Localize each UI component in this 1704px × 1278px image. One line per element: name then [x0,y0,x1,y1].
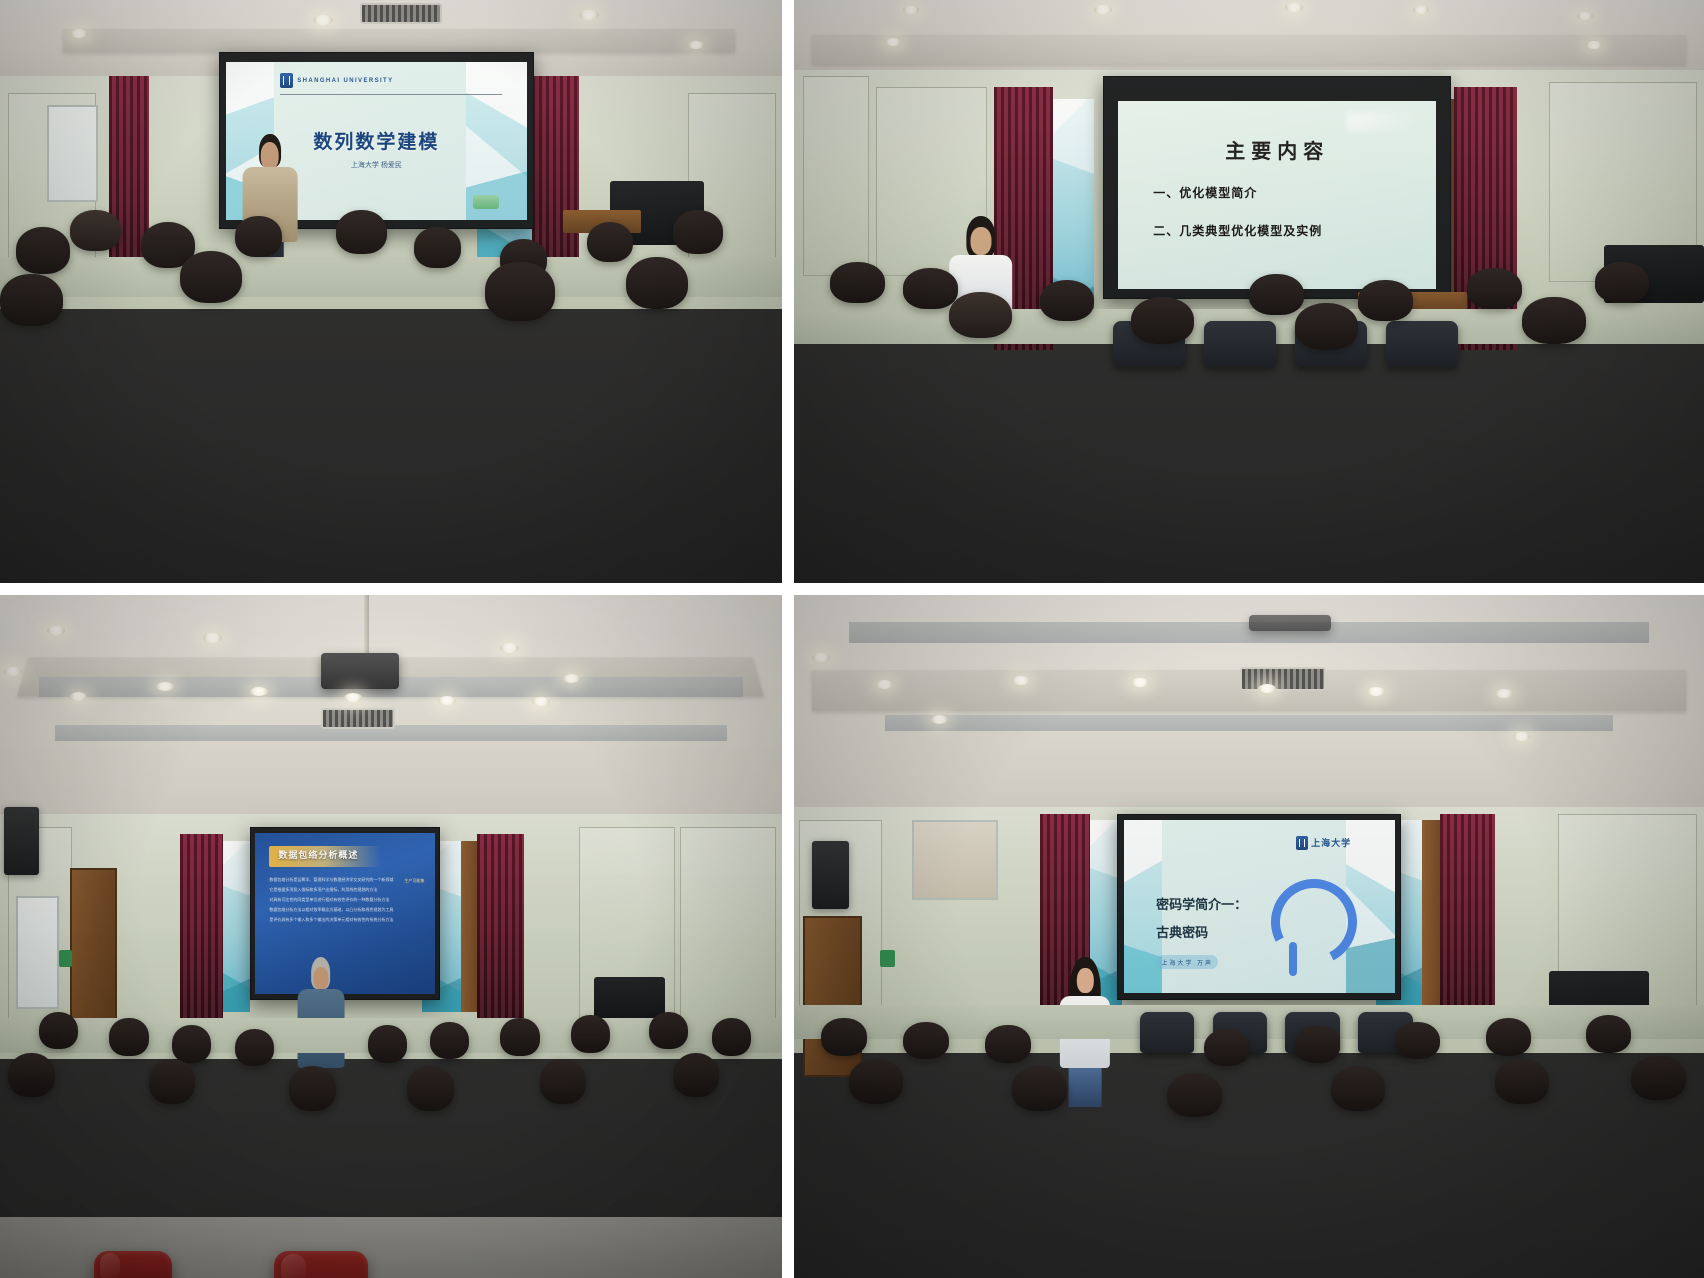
audience-head [1167,1073,1222,1117]
stage-trim [1422,820,1440,1004]
audience-head [1358,280,1413,321]
air-vent-icon [321,708,395,730]
logo-text: SHANGHAI UNIVERSITY [297,78,393,84]
audience-head [0,274,63,326]
audience-head [830,262,885,303]
audience-head [289,1066,336,1110]
audience-head [16,227,71,274]
wall-panel [680,827,776,1020]
audience-head [571,1015,610,1053]
audience-head [985,1025,1031,1063]
ceiling-soffit [63,29,736,52]
audience-head [70,210,121,251]
ceiling-soffit [812,35,1686,64]
audience-head [1595,262,1650,303]
downlight-icon [4,667,22,676]
screen-glare [1347,112,1417,131]
audience-head [235,1029,274,1067]
auditorium-scene-4: 上海大学 密码学简介一： 古典密码 上海大学 万声 [794,595,1704,1278]
audience-head [1631,1056,1686,1100]
wall-speaker [4,807,39,875]
downlight-icon [1258,684,1276,693]
wall-speaker [812,841,848,909]
audience-head [673,210,724,254]
slide-body-line: 数据包络分析是运筹学、管理科学与数理经济学交叉研究的一个新领域 [269,877,420,883]
audience-head [1495,1059,1550,1103]
audience-head [1486,1018,1532,1056]
slide-rule [280,94,502,95]
slide-main-contents: 主要内容 一、优化模型简介 二、几类典型优化模型及实例 [1118,101,1436,289]
audience-head [336,210,387,254]
auditorium-scene-3: 数据包络分析概述 数据包络分析是运筹学、管理科学与数理经济学交叉研究的一个新领域… [0,595,782,1278]
slide-side-note: 生产可能集 [404,878,424,884]
projection-screen: 上海大学 密码学简介一： 古典密码 上海大学 万声 [1124,820,1395,993]
audience-head [903,268,958,309]
presenter-legs [1069,1068,1102,1107]
slide-title-line-1: 密码学简介一： [1156,896,1247,914]
panel-2-lecture-photo-main-contents: 主要内容 一、优化模型简介 二、几类典型优化模型及实例 [794,0,1704,583]
stage-trim [461,841,477,1012]
audience-head [649,1012,688,1050]
stage-curtain-right [477,834,524,1018]
audience-head [1204,1029,1250,1067]
panel-1-lecture-photo-sequence-modeling: SHANGHAI UNIVERSITY 数列数学建模 上海大学 杨爱民 [0,0,782,583]
stage-chair [1204,321,1277,368]
audience-head [368,1025,407,1063]
audience-head [1012,1066,1067,1110]
audience-head [1586,1015,1632,1053]
audience-head [1467,268,1522,309]
audience-head [485,262,555,320]
window [912,820,998,899]
audience-head [235,216,282,257]
audience-head [1131,297,1195,344]
slide-badge [473,195,499,209]
audience-head [1249,274,1304,315]
downlight-icon [203,633,222,643]
slide-item: 二、几类典型优化模型及实例 [1153,222,1322,239]
shanghai-university-logo: 上海大学 [1296,836,1351,850]
logo-text: 上海大学 [1311,836,1351,849]
downlight-icon [313,15,333,25]
downlight-icon [500,643,519,653]
exit-sign-icon [880,950,895,966]
downlight-icon [1577,12,1593,20]
downlight-icon [1513,732,1530,741]
logo-mark-icon [280,73,293,88]
audience-head [407,1066,454,1110]
downlight-icon [438,696,456,705]
exit-sign-icon [59,950,72,967]
projection-screen: 数据包络分析概述 数据包络分析是运筹学、管理科学与数理经济学交叉研究的一个新领域… [255,833,435,994]
ceiling-strip [885,715,1613,731]
downlight-icon [1586,41,1602,49]
auditorium-scene-2: 主要内容 一、优化模型简介 二、几类典型优化模型及实例 [794,0,1704,583]
presenter-head [1077,968,1093,994]
audience-head [1040,280,1095,321]
window [16,896,59,1009]
audience-head [1331,1066,1386,1110]
photo-collage: SHANGHAI UNIVERSITY 数列数学建模 上海大学 杨爱民 [0,0,1704,1278]
audience-head [540,1059,587,1103]
downlight-icon [1012,676,1030,685]
downlight-icon [1413,6,1429,14]
audience-head [180,251,243,303]
audience-head [172,1025,211,1063]
slide-body-line: 它是根据多项投入指标和多项产出指标，利用线性规划的方法 [269,887,420,893]
stage-chair [1386,321,1459,368]
audience-head [1522,297,1586,344]
slide-bar-graphic [1289,942,1297,976]
downlight-icon [563,674,580,683]
seat [94,1251,172,1278]
audience-head [949,292,1013,339]
downlight-icon [1094,5,1112,14]
door [70,868,117,1036]
downlight-icon [903,6,919,14]
slide-title-line-2: 古典密码 [1156,924,1208,942]
projector-mount-rod [364,595,369,656]
slide-body-line: 对具有可比性的同类型单位进行相对有效性评价的一种数量分析方法 [269,897,420,903]
presenter-head [260,142,279,170]
stage-curtain-left [180,834,223,1018]
audience-head [1395,1022,1441,1060]
audience-head [500,1018,539,1056]
audience-head [587,222,634,263]
audience-head [849,1059,904,1103]
slide-cryptography-intro: 上海大学 密码学简介一： 古典密码 上海大学 万声 [1124,820,1395,993]
projector [321,653,399,689]
audience-head [903,1022,949,1060]
audience-head [712,1018,751,1056]
air-vent-icon [1240,667,1326,691]
audience-head [39,1012,78,1050]
projection-screen: 主要内容 一、优化模型简介 二、几类典型优化模型及实例 [1118,101,1436,289]
seat [274,1251,368,1278]
window [47,105,98,202]
wall-panel [803,76,869,276]
presenter-head [313,967,328,990]
audience-head [414,227,461,268]
air-vent-icon [360,3,442,24]
slide-item: 一、优化模型简介 [1153,184,1257,201]
stage-chair [1140,1012,1195,1053]
slide-body-line: 数据包络分析方法以相对效率概念为基础，以凸分析和线性规划为工具 [269,907,420,913]
projection-screen-frame: 数据包络分析概述 数据包络分析是运筹学、管理科学与数理经济学交叉研究的一个新领域… [250,827,440,1000]
downlight-icon [885,38,901,46]
projection-screen-frame: 主要内容 一、优化模型简介 二、几类典型优化模型及实例 [1103,76,1451,300]
slide-subtitle-pill: 上海大学 万声 [1156,955,1218,969]
audience-head [149,1059,196,1103]
slide-dea-overview: 数据包络分析概述 数据包络分析是运筹学、管理科学与数理经济学交叉研究的一个新领域… [255,833,435,994]
logo-mark-icon [1296,836,1308,850]
stage-curtain-right [1440,814,1495,1019]
panel-3-lecture-photo-dea-overview: 数据包络分析概述 数据包络分析是运筹学、管理科学与数理经济学交叉研究的一个新领域… [0,595,782,1278]
audience-head [109,1018,148,1056]
audience-head [430,1022,469,1060]
slide-title: 数据包络分析概述 [278,848,358,861]
projection-screen-frame: 上海大学 密码学简介一： 古典密码 上海大学 万声 [1117,814,1401,1000]
audience-head [8,1053,55,1097]
downlight-icon [931,715,948,724]
slide-title: 主要内容 [1118,135,1436,164]
projector [1249,615,1331,630]
downlight-icon [688,41,704,49]
audience-head [673,1053,720,1097]
audience-head [626,257,689,309]
auditorium-scene-1: SHANGHAI UNIVERSITY 数列数学建模 上海大学 杨爱民 [0,0,782,583]
stage-decor-panel [219,841,250,1012]
shanghai-university-logo: SHANGHAI UNIVERSITY [280,73,393,88]
audience-head [821,1018,867,1056]
panel-4-lecture-photo-cryptography-intro: 上海大学 密码学简介一： 古典密码 上海大学 万声 [794,595,1704,1278]
slide-body: 数据包络分析是运筹学、管理科学与数理经济学交叉研究的一个新领域 它是根据多项投入… [269,877,420,928]
presenter-head [970,227,991,255]
downlight-icon [344,693,362,702]
audience-head [1295,1025,1341,1063]
slide-body-line: 是评价具有多个输入和多个输出的决策单元相对有效性的系统分析方法 [269,917,420,923]
audience-head [1295,303,1359,350]
